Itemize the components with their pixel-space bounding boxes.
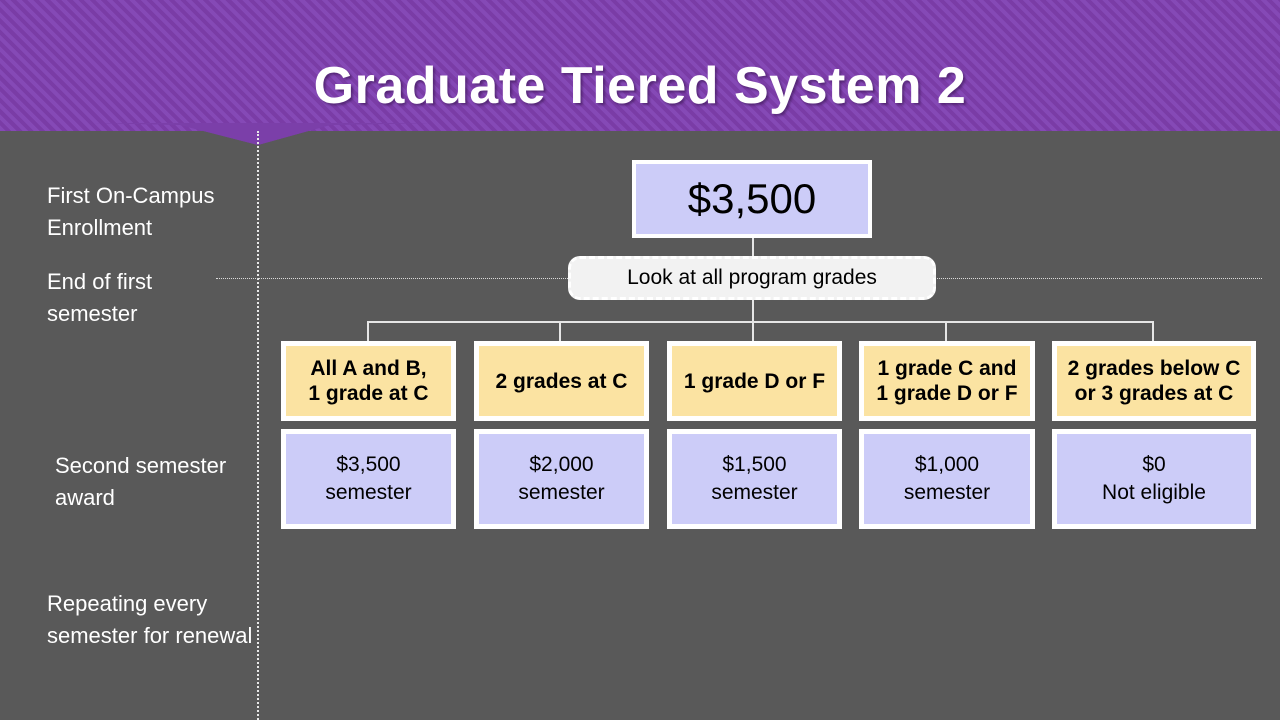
connector-decision-to-bar xyxy=(752,298,754,323)
award-box-1: $3,500 semester xyxy=(281,429,456,529)
stage-label-repeating-renewal: Repeating every semester for renewal xyxy=(47,588,262,652)
stage-label-second-semester-award: Second semester award xyxy=(55,450,265,514)
criteria-box-3: 1 grade D or F xyxy=(667,341,842,421)
connector-drop-branch-3 xyxy=(752,321,754,341)
criteria-box-4: 1 grade C and 1 grade D or F xyxy=(859,341,1035,421)
root-award-box: $3,500 xyxy=(632,160,872,238)
decision-box-review-grades: Look at all program grades xyxy=(568,256,936,300)
criteria-box-2: 2 grades at C xyxy=(474,341,649,421)
connector-distribution-bar xyxy=(368,321,1154,323)
page-title: Graduate Tiered System 2 xyxy=(0,55,1280,117)
criteria-box-5: 2 grades below C or 3 grades at C xyxy=(1052,341,1256,421)
connector-drop-branch-1 xyxy=(367,321,369,341)
criteria-box-1: All A and B, 1 grade at C xyxy=(281,341,456,421)
connector-drop-branch-4 xyxy=(945,321,947,341)
connector-drop-branch-2 xyxy=(559,321,561,341)
connector-drop-branch-5 xyxy=(1152,321,1154,341)
award-box-2: $2,000 semester xyxy=(474,429,649,529)
award-box-5: $0 Not eligible xyxy=(1052,429,1256,529)
slide-canvas: Graduate Tiered System 2 First On-Campus… xyxy=(0,0,1280,720)
stage-label-first-enrollment: First On-Campus Enrollment xyxy=(47,180,257,244)
stage-label-end-of-first-semester: End of first semester xyxy=(47,266,257,330)
award-box-4: $1,000 semester xyxy=(859,429,1035,529)
award-box-3: $1,500 semester xyxy=(667,429,842,529)
